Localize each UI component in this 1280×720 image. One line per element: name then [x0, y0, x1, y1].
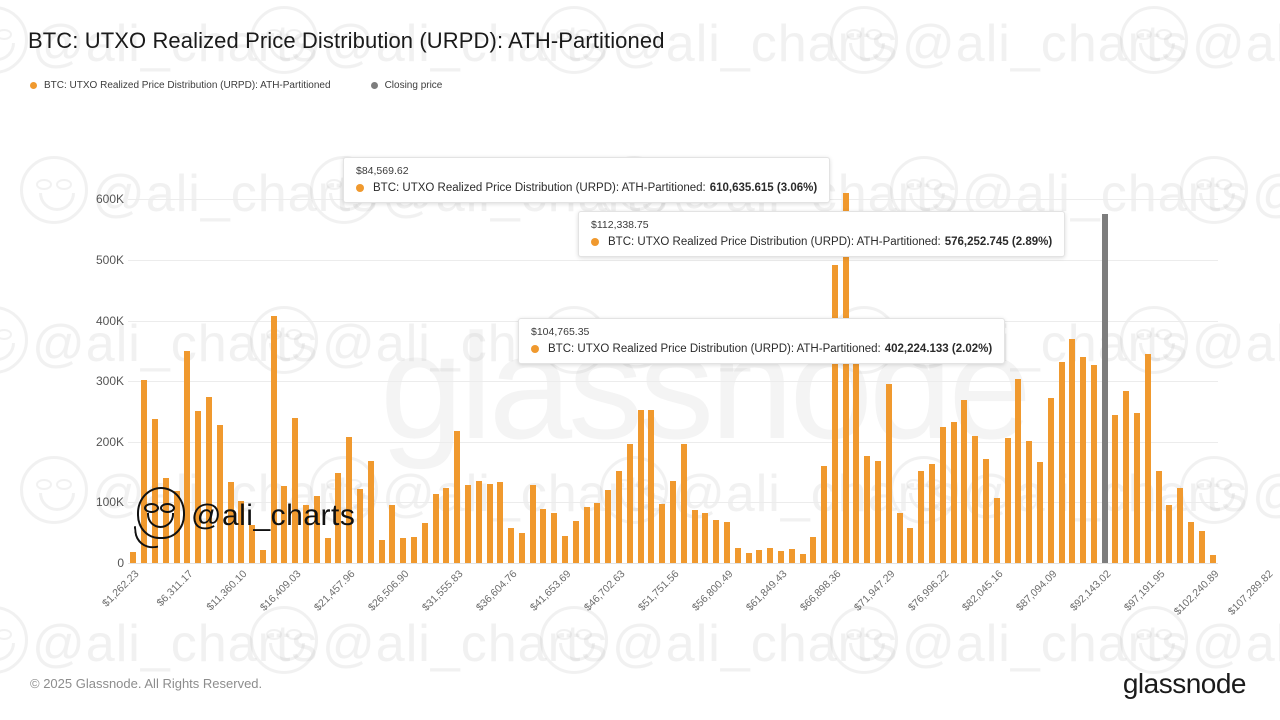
urpd-bar[interactable]	[497, 482, 503, 563]
legend-item-closing-price[interactable]: Closing price	[371, 80, 443, 91]
urpd-bar[interactable]	[918, 471, 924, 563]
tooltip-price-label: $84,569.62	[356, 165, 817, 177]
urpd-bar[interactable]	[357, 489, 363, 563]
urpd-bar[interactable]	[130, 552, 136, 563]
urpd-bar[interactable]	[1112, 415, 1118, 563]
x-axis-tick-label: $87,094.09	[1014, 568, 1060, 614]
tooltip-series-row: BTC: UTXO Realized Price Distribution (U…	[356, 182, 817, 194]
urpd-bar[interactable]	[648, 410, 654, 563]
legend-color-dot-closing-price	[371, 82, 378, 89]
chart-legend: BTC: UTXO Realized Price Distribution (U…	[30, 80, 482, 91]
urpd-bar[interactable]	[789, 549, 795, 563]
tooltip-series-row: BTC: UTXO Realized Price Distribution (U…	[591, 236, 1052, 248]
x-axis-tick-label: $102,240.89	[1171, 568, 1221, 618]
urpd-bar[interactable]	[422, 523, 428, 563]
urpd-bar[interactable]	[1048, 398, 1054, 564]
urpd-bar[interactable]	[1199, 531, 1205, 563]
urpd-bar[interactable]	[767, 548, 773, 563]
urpd-bar[interactable]	[1156, 471, 1162, 563]
tooltip-series-name: BTC: UTXO Realized Price Distribution (U…	[373, 182, 706, 194]
x-axis-tick-label: $66,898.36	[798, 568, 844, 614]
x-axis-tick-label: $107,289.82	[1225, 568, 1275, 618]
urpd-bar[interactable]	[907, 528, 913, 563]
page-title: BTC: UTXO Realized Price Distribution (U…	[28, 28, 665, 54]
urpd-bar[interactable]	[411, 537, 417, 563]
y-axis-tick-label: 100K	[64, 495, 124, 509]
urpd-bar[interactable]	[530, 485, 536, 563]
urpd-bar[interactable]	[1026, 441, 1032, 563]
tooltip-series-name: BTC: UTXO Realized Price Distribution (U…	[608, 236, 941, 248]
x-axis-tick-label: $11,360.10	[205, 568, 250, 613]
urpd-bar[interactable]	[897, 513, 903, 563]
urpd-bar[interactable]	[713, 520, 719, 563]
x-axis-tick-label: $61,849.43	[744, 568, 790, 614]
x-axis-tick-label: $21,457.96	[312, 568, 358, 614]
urpd-bar[interactable]	[551, 513, 557, 563]
urpd-bar[interactable]	[573, 521, 579, 563]
ali-charts-handle: @ali_charts	[191, 499, 355, 533]
urpd-bar[interactable]	[638, 410, 644, 563]
urpd-bar[interactable]	[584, 507, 590, 563]
x-axis-tick-label: $16,409.03	[258, 568, 304, 614]
urpd-bar[interactable]	[670, 481, 676, 563]
ali-charts-signature: @ali_charts	[133, 485, 355, 547]
x-axis-tick-label: $56,800.49	[690, 568, 736, 614]
y-axis-tick-label: 200K	[64, 435, 124, 449]
y-axis-tick-label: 400K	[64, 314, 124, 328]
urpd-bar[interactable]	[940, 427, 946, 563]
urpd-bar[interactable]	[994, 498, 1000, 563]
y-gridline	[128, 260, 1218, 261]
x-axis-tick-label: $1,262.23	[100, 568, 142, 610]
urpd-bar[interactable]	[443, 488, 449, 563]
x-axis-tick-label: $46,702.63	[582, 568, 628, 614]
urpd-bar[interactable]	[1059, 362, 1065, 563]
urpd-bar[interactable]	[681, 444, 687, 563]
y-axis-tick-label: 500K	[64, 253, 124, 267]
urpd-bar[interactable]	[692, 510, 698, 563]
urpd-bar[interactable]	[735, 548, 741, 563]
urpd-bar[interactable]	[1188, 522, 1194, 563]
urpd-bar[interactable]	[821, 466, 827, 563]
urpd-bar[interactable]	[702, 513, 708, 563]
x-axis-tick-label: $92,143.02	[1068, 568, 1114, 614]
urpd-bar[interactable]	[616, 471, 622, 563]
y-axis-tick-label: 600K	[64, 192, 124, 206]
x-axis-tick-label: $97,191.95	[1121, 568, 1167, 614]
tooltip-color-dot	[591, 238, 599, 246]
tooltip-color-dot	[356, 184, 364, 192]
urpd-bar[interactable]	[476, 481, 482, 563]
tooltip-series-row: BTC: UTXO Realized Price Distribution (U…	[531, 343, 992, 355]
x-axis-tick-label: $6,311.17	[155, 568, 196, 609]
urpd-bar[interactable]	[1015, 379, 1021, 563]
urpd-bar[interactable]	[972, 436, 978, 563]
urpd-bar[interactable]	[724, 522, 730, 563]
urpd-bar[interactable]	[368, 461, 374, 563]
urpd-bar[interactable]	[1091, 365, 1097, 563]
urpd-bar[interactable]	[1210, 555, 1216, 563]
tooltip-series-value: 576,252.745 (2.89%)	[945, 236, 1052, 248]
urpd-bar[interactable]	[389, 505, 395, 563]
x-axis-line	[128, 563, 1218, 564]
tooltip-color-dot	[531, 345, 539, 353]
urpd-bar[interactable]	[379, 540, 385, 563]
tooltip-series-value: 402,224.133 (2.02%)	[885, 343, 992, 355]
urpd-bar[interactable]	[875, 461, 881, 563]
urpd-bar[interactable]	[1134, 413, 1140, 563]
x-axis-tick-label: $36,604.76	[474, 568, 520, 614]
urpd-bar[interactable]	[886, 384, 892, 563]
urpd-bar[interactable]	[800, 554, 806, 563]
legend-label-closing-price: Closing price	[385, 80, 443, 91]
urpd-bar[interactable]	[1166, 505, 1172, 563]
urpd-bar[interactable]	[605, 490, 611, 563]
urpd-bar[interactable]	[951, 422, 957, 563]
legend-label-urpd: BTC: UTXO Realized Price Distribution (U…	[44, 80, 331, 91]
glassnode-logo: glassnode	[1123, 668, 1246, 700]
y-gridline	[128, 381, 1218, 382]
urpd-bar[interactable]	[810, 537, 816, 563]
chart-tooltip: $104,765.35BTC: UTXO Realized Price Dist…	[518, 318, 1005, 364]
urpd-bar[interactable]	[1080, 357, 1086, 563]
chart-tooltip: $84,569.62BTC: UTXO Realized Price Distr…	[343, 157, 830, 203]
y-axis-tick-label: 0	[64, 556, 124, 570]
urpd-bar[interactable]	[1005, 438, 1011, 563]
urpd-bar[interactable]	[454, 431, 460, 563]
chart-tooltip: $112,338.75BTC: UTXO Realized Price Dist…	[578, 211, 1065, 257]
x-axis-tick-label: $76,996.22	[906, 568, 952, 614]
urpd-bar[interactable]	[929, 464, 935, 563]
x-axis-tick-label: $51,751.56	[636, 568, 682, 614]
urpd-bar[interactable]	[487, 484, 493, 563]
urpd-bar[interactable]	[508, 528, 514, 563]
x-axis-tick-label: $41,653.69	[528, 568, 574, 614]
urpd-bar[interactable]	[540, 509, 546, 563]
urpd-bar[interactable]	[832, 265, 838, 563]
urpd-bar[interactable]	[1123, 391, 1129, 563]
x-axis-tick-label: $26,506.90	[366, 568, 412, 614]
urpd-bar[interactable]	[433, 494, 439, 563]
urpd-bar[interactable]	[961, 400, 967, 563]
urpd-bar[interactable]	[983, 459, 989, 563]
urpd-bar[interactable]	[1069, 339, 1075, 563]
urpd-bar[interactable]	[562, 536, 568, 563]
urpd-bar[interactable]	[746, 553, 752, 563]
urpd-bar[interactable]	[756, 550, 762, 563]
x-axis-tick-label: $82,045.16	[960, 568, 1006, 614]
ali-charts-face-icon	[133, 485, 185, 547]
urpd-bar[interactable]	[260, 550, 266, 563]
urpd-bar[interactable]	[400, 538, 406, 563]
tooltip-series-name: BTC: UTXO Realized Price Distribution (U…	[548, 343, 881, 355]
urpd-bar[interactable]	[1037, 462, 1043, 563]
urpd-bar[interactable]	[864, 456, 870, 563]
tooltip-price-label: $112,338.75	[591, 219, 1052, 231]
urpd-bar[interactable]	[778, 551, 784, 563]
legend-color-dot-urpd	[30, 82, 37, 89]
copyright-text: © 2025 Glassnode. All Rights Reserved.	[30, 676, 262, 691]
y-axis-tick-label: 300K	[64, 374, 124, 388]
closing-price-marker[interactable]	[1102, 484, 1108, 563]
urpd-bar[interactable]	[1145, 354, 1151, 563]
urpd-bar[interactable]	[659, 504, 665, 563]
legend-item-urpd[interactable]: BTC: UTXO Realized Price Distribution (U…	[30, 80, 331, 91]
urpd-bar[interactable]	[519, 533, 525, 563]
urpd-bar[interactable]	[627, 444, 633, 563]
urpd-bar[interactable]	[1177, 488, 1183, 563]
tooltip-series-value: 610,635.615 (3.06%)	[710, 182, 817, 194]
urpd-bar[interactable]	[594, 503, 600, 563]
x-axis-tick-label: $71,947.29	[852, 568, 898, 614]
urpd-bar[interactable]	[465, 485, 471, 563]
x-axis-tick-label: $31,555.83	[420, 568, 466, 614]
tooltip-price-label: $104,765.35	[531, 326, 992, 338]
